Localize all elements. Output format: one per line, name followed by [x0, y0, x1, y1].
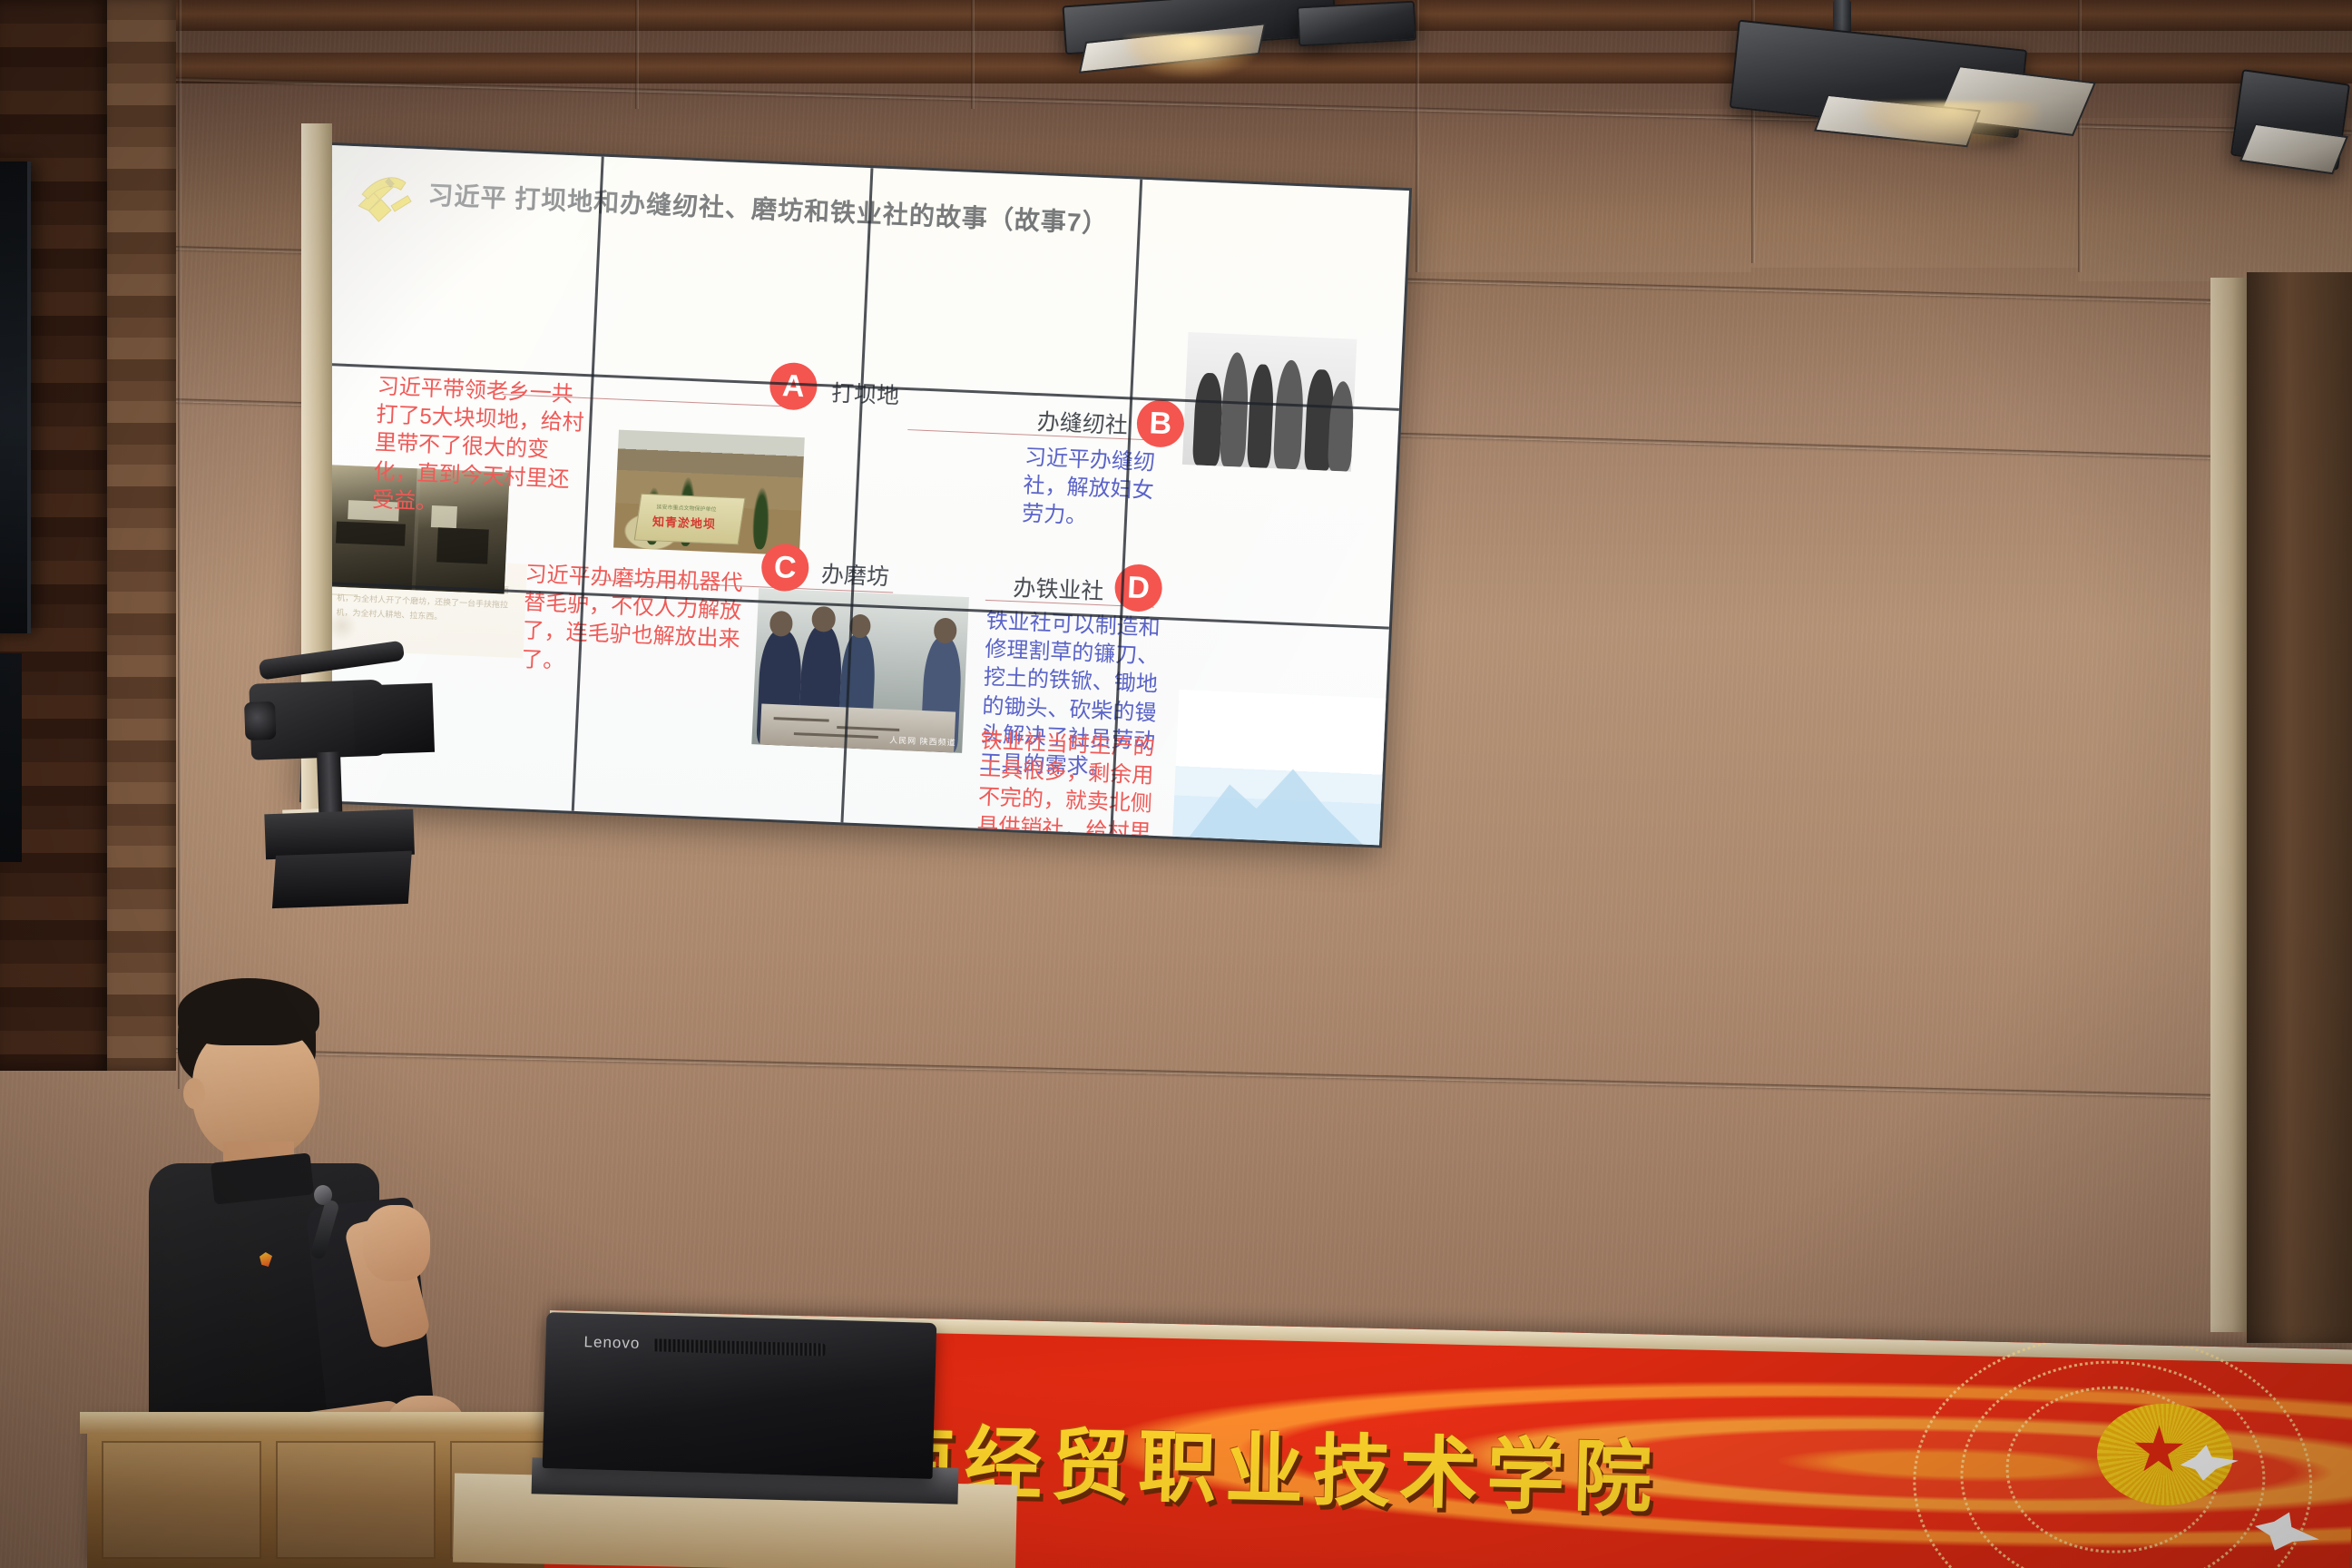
wall-wood-panel-left: [107, 0, 176, 1071]
dam-sign-subtext: 延安市重点文物保护单位: [656, 502, 716, 513]
slide-background-mountains: [1172, 690, 1386, 845]
section-badge-c[interactable]: C: [760, 543, 809, 592]
wall-panel: [1416, 109, 1751, 272]
stage-light-fixture-left: [1042, 0, 1441, 87]
figure-shape: [1247, 364, 1275, 468]
figure-shape: [1192, 372, 1223, 465]
screen-frame-post-right: [2210, 278, 2247, 1332]
podium-panel: [276, 1441, 436, 1559]
figure-shape: [1220, 352, 1250, 467]
light-glow: [1123, 34, 1259, 78]
camera-handle: [259, 641, 406, 681]
camera-mount-bracket: [272, 851, 412, 908]
stage-light-fixture-right: [1733, 15, 2114, 160]
section-body-c: 习近平办磨坊用机器代替毛驴，不仅人力解放了，连毛驴也解放出来了。: [521, 560, 750, 682]
figure-shape: [1273, 360, 1305, 470]
camera-mount-arm: [317, 751, 342, 816]
machine-part: [336, 521, 406, 545]
laptop[interactable]: Lenovo: [543, 1312, 937, 1479]
slide-canvas: 习近平 打坝地和办缝纫社、磨坊和铁业社的故事（故事7） A 打坝地 习近平带领老…: [302, 145, 1409, 845]
laptop-brand-label: Lenovo: [583, 1333, 640, 1353]
photo-scene: 习近平 打坝地和办缝纫社、磨坊和铁业社的故事（故事7） A 打坝地 习近平带领老…: [0, 0, 2352, 1568]
section-badge-b[interactable]: B: [1136, 399, 1185, 448]
wall-seam: [971, 0, 975, 109]
wall-seam: [178, 0, 181, 1089]
presenter-hand: [363, 1205, 430, 1281]
camera-lens: [244, 701, 276, 740]
wall-wood-panel-right: [2247, 272, 2352, 1343]
left-display-panel: [0, 653, 22, 862]
machine-part: [436, 528, 489, 564]
light-body: [1297, 1, 1416, 47]
party-emblem-icon: [345, 164, 424, 230]
camera-hood: [352, 683, 435, 755]
dam-stone-sign: 延安市重点文物保护单位 知青淤地坝: [633, 494, 745, 545]
wall-seam: [635, 0, 639, 109]
slide-title: 习近平 打坝地和办缝纫社、磨坊和铁业社的故事（故事7）: [427, 175, 1372, 256]
section-body-d-red: 铁业社当时生产的工具很多，剩余用不完的，就卖北侧县供销社，给村里增加收入。: [975, 727, 1170, 846]
laptop-vent: [652, 1338, 825, 1356]
section-heading-d: 办铁业社: [1013, 570, 1105, 606]
worker-head: [934, 618, 958, 644]
light-glow: [1860, 102, 2042, 147]
section-body-a: 习近平带领老乡一共打了5大块坝地，给村里带不了很大的变化，直到今天村里还受益。: [371, 372, 588, 523]
microphone-head: [314, 1185, 332, 1205]
video-wall-display[interactable]: 习近平 打坝地和办缝纫社、磨坊和铁业社的故事（故事7） A 打坝地 习近平带领老…: [302, 145, 1409, 845]
tree-shape: [751, 487, 771, 549]
section-badge-a[interactable]: A: [769, 362, 818, 411]
podium-panel: [102, 1441, 261, 1559]
dam-sign-text: 知青淤地坝: [652, 512, 716, 532]
section-body-b: 习近平办缝纫社，解放妇女劳力。: [1022, 444, 1171, 534]
left-display-panel: [0, 162, 31, 633]
photo-iron-cooperative: 人民网 陕西频道: [751, 588, 969, 753]
wall-mounted-video-camera: [242, 639, 458, 918]
mountain-shape: [1189, 755, 1366, 845]
section-heading-b: 办缝纫社: [1036, 404, 1129, 440]
presenter-hair: [178, 978, 319, 1045]
section-heading-a: 打坝地: [830, 375, 900, 410]
stage-light-fixture-far-right: [2236, 76, 2352, 194]
presenter-ear: [183, 1078, 205, 1109]
photo-dam-field: 延安市重点文物保护单位 知青淤地坝: [613, 430, 805, 556]
